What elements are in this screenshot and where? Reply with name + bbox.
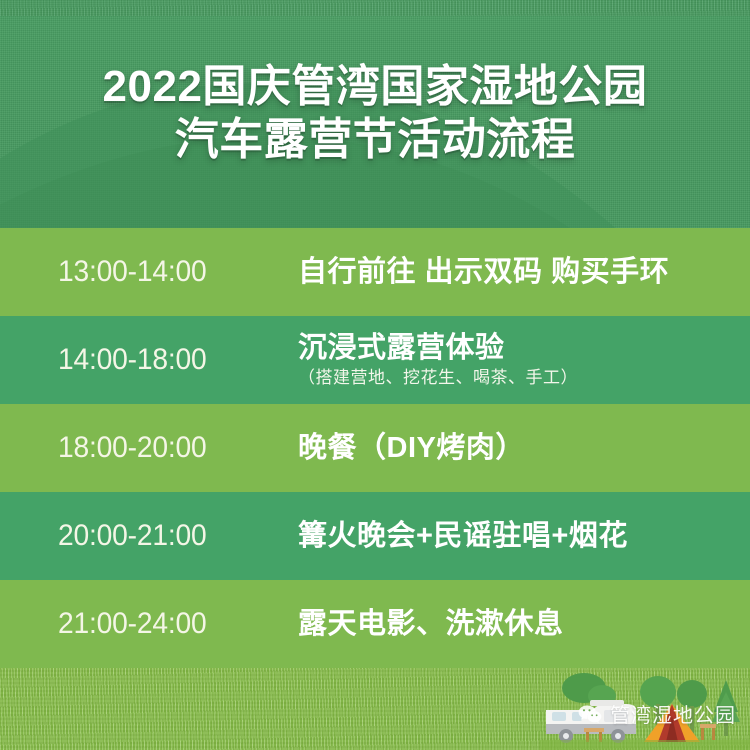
poster-footer: 管湾湿地公园 [0, 668, 750, 750]
watermark: 管湾湿地公园 [577, 699, 736, 728]
poster-header: 2022国庆管湾国家湿地公园 汽车露营节活动流程 [0, 0, 750, 228]
schedule-row: 18:00-20:00 晚餐（DIY烤肉） [0, 404, 750, 492]
schedule-row-description: 露天电影、洗漱休息 [298, 607, 750, 641]
schedule-row-time: 13:00-14:00 [58, 255, 272, 289]
schedule-row-time: 21:00-24:00 [58, 607, 272, 641]
schedule-list: 13:00-14:00 自行前往 出示双码 购买手环 14:00-18:00 沉… [0, 228, 750, 668]
schedule-row: 13:00-14:00 自行前往 出示双码 购买手环 [0, 228, 750, 316]
schedule-row: 20:00-21:00 篝火晚会+民谣驻唱+烟花 [0, 492, 750, 580]
schedule-row-body: 自行前往 出示双码 购买手环 [298, 255, 750, 289]
watermark-text: 管湾湿地公园 [610, 699, 736, 728]
schedule-row: 14:00-18:00 沉浸式露营体验 （搭建营地、挖花生、喝茶、手工） [0, 316, 750, 404]
schedule-row-description: 晚餐（DIY烤肉） [298, 431, 750, 465]
schedule-row-body: 晚餐（DIY烤肉） [298, 431, 750, 465]
schedule-row-subtext: （搭建营地、挖花生、喝茶、手工） [298, 367, 750, 389]
schedule-row-description: 沉浸式露营体验 [298, 331, 750, 365]
schedule-row-time: 20:00-21:00 [58, 519, 272, 553]
poster-root: 2022国庆管湾国家湿地公园 汽车露营节活动流程 13:00-14:00 自行前… [0, 0, 750, 750]
schedule-row: 21:00-24:00 露天电影、洗漱休息 [0, 580, 750, 668]
schedule-row-body: 篝火晚会+民谣驻唱+烟花 [298, 519, 750, 553]
schedule-row-time: 18:00-20:00 [58, 431, 272, 465]
page-title-line-2: 汽车露营节活动流程 [175, 117, 576, 164]
schedule-row-body: 露天电影、洗漱休息 [298, 607, 750, 641]
schedule-row-description: 篝火晚会+民谣驻唱+烟花 [298, 519, 750, 553]
wechat-icon [577, 701, 603, 727]
schedule-row-body: 沉浸式露营体验 （搭建营地、挖花生、喝茶、手工） [298, 331, 750, 389]
schedule-row-time: 14:00-18:00 [58, 343, 272, 377]
schedule-row-description: 自行前往 出示双码 购买手环 [298, 255, 750, 289]
header-title-block: 2022国庆管湾国家湿地公园 汽车露营节活动流程 [0, 0, 750, 228]
page-title-line-1: 2022国庆管湾国家湿地公园 [103, 64, 648, 111]
